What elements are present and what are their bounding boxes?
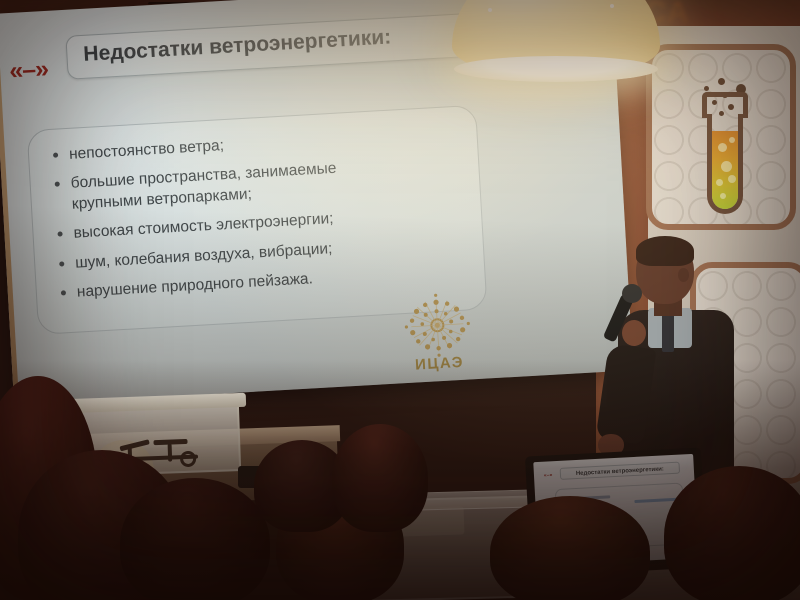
slide-title-box: Недостатки ветроэнергетики:	[65, 12, 491, 80]
bullet-2-word-1: большие	[70, 172, 135, 193]
audience-head	[664, 466, 800, 600]
slide-title: Недостатки ветроэнергетики:	[83, 25, 392, 66]
audience-head	[490, 496, 650, 600]
audience-head	[120, 478, 270, 600]
presenter-hand	[622, 320, 646, 346]
microphone-head-icon	[622, 284, 642, 303]
test-tube-icon	[692, 78, 758, 218]
presentation-room-photo: РОСА	[0, 0, 800, 600]
wall-panel-test-tube	[646, 44, 796, 230]
presenter-tie	[662, 314, 674, 352]
slide-minus-mark: «–»	[8, 55, 48, 86]
slide-bullet-list: непостоянство ветра; большие пространств…	[49, 123, 468, 314]
laptop-slide-title: Недостатки ветроэнергетики:	[560, 462, 680, 480]
itsae-logo-text: ИЦАЭ	[400, 353, 479, 374]
presenter-ear	[678, 268, 689, 282]
audience-head	[332, 424, 428, 532]
laptop-slide-minus-mark: «–»	[544, 472, 553, 478]
presenter-hair	[636, 236, 694, 266]
lamp-light-rim	[454, 56, 658, 82]
bullet-2-word-3: занимаемые	[245, 160, 337, 182]
pendant-lamp	[452, 0, 660, 78]
